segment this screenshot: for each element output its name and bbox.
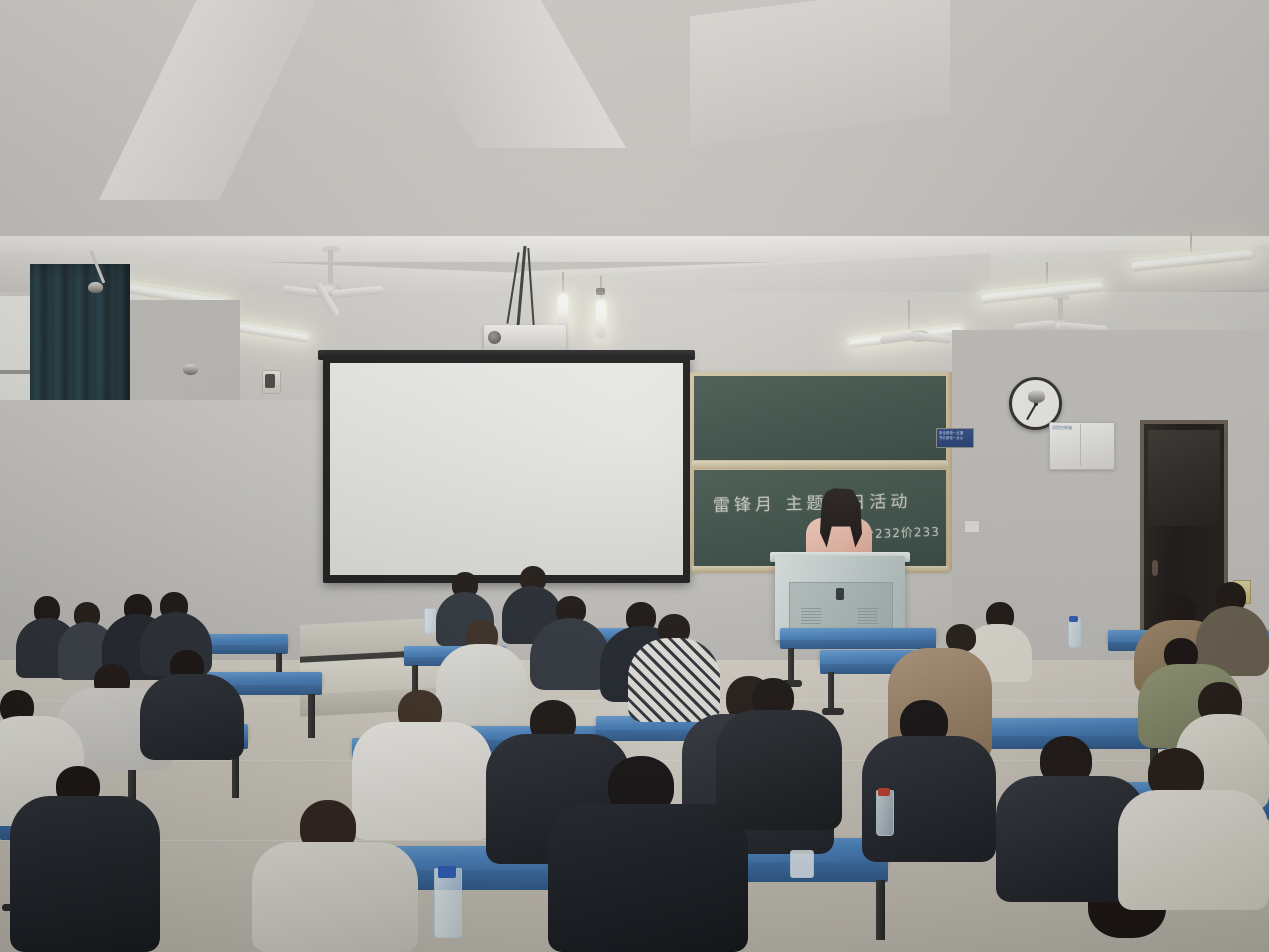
control-box-divider <box>1080 424 1081 466</box>
podium-vent <box>858 608 878 626</box>
fan-stem <box>1058 298 1063 322</box>
blackboard-side-text: 价232价233 <box>862 523 940 543</box>
cup[interactable] <box>790 850 814 878</box>
projection-screen: 雷锋 为人民服务 你知道雷锋日吗？ 学雷锋纪念日是每年的3月5日。 1963年3… <box>330 363 683 575</box>
security-camera-icon <box>183 364 198 375</box>
projector-lens <box>488 331 501 344</box>
security-camera-icon <box>1028 390 1045 403</box>
light-rod <box>562 272 564 294</box>
water-bottle[interactable] <box>424 608 436 634</box>
safety-sign: 安全用电一点通 节约用电一点心 <box>936 428 974 448</box>
chalk-rail <box>692 461 948 469</box>
door-handle[interactable] <box>1152 560 1158 576</box>
fan-stem <box>328 250 333 286</box>
light-rod <box>1046 262 1048 284</box>
fan-mount <box>912 316 930 323</box>
light-rod-cap <box>596 288 605 295</box>
blackboard-upper <box>694 376 946 460</box>
bottle-cap <box>878 788 890 796</box>
speaker-grille <box>265 374 275 388</box>
safety-sign-line: 节约用电一点心 <box>939 436 971 441</box>
wall-outlet[interactable] <box>964 520 980 533</box>
control-box-label: 消防控制箱 <box>1052 425 1072 431</box>
bottle-cap <box>1069 616 1078 622</box>
security-camera-icon <box>88 282 103 293</box>
water-bottle[interactable] <box>1068 618 1081 648</box>
blackboard-text: 雷锋月 主题团日活动 <box>713 487 912 516</box>
podium-vent <box>801 608 821 626</box>
water-bottle[interactable] <box>876 790 894 836</box>
podium-knob[interactable] <box>836 588 844 600</box>
classroom-photo: 雷锋 为人民服务 你知道雷锋日吗？ 学雷锋纪念日是每年的3月5日。 1963年3… <box>0 0 1269 952</box>
door-glass <box>1148 430 1220 526</box>
bottle-cap <box>438 866 456 878</box>
water-bottle[interactable] <box>434 868 462 938</box>
light-rod <box>908 300 910 330</box>
tube-light <box>596 300 606 338</box>
light-rod <box>1190 232 1192 252</box>
